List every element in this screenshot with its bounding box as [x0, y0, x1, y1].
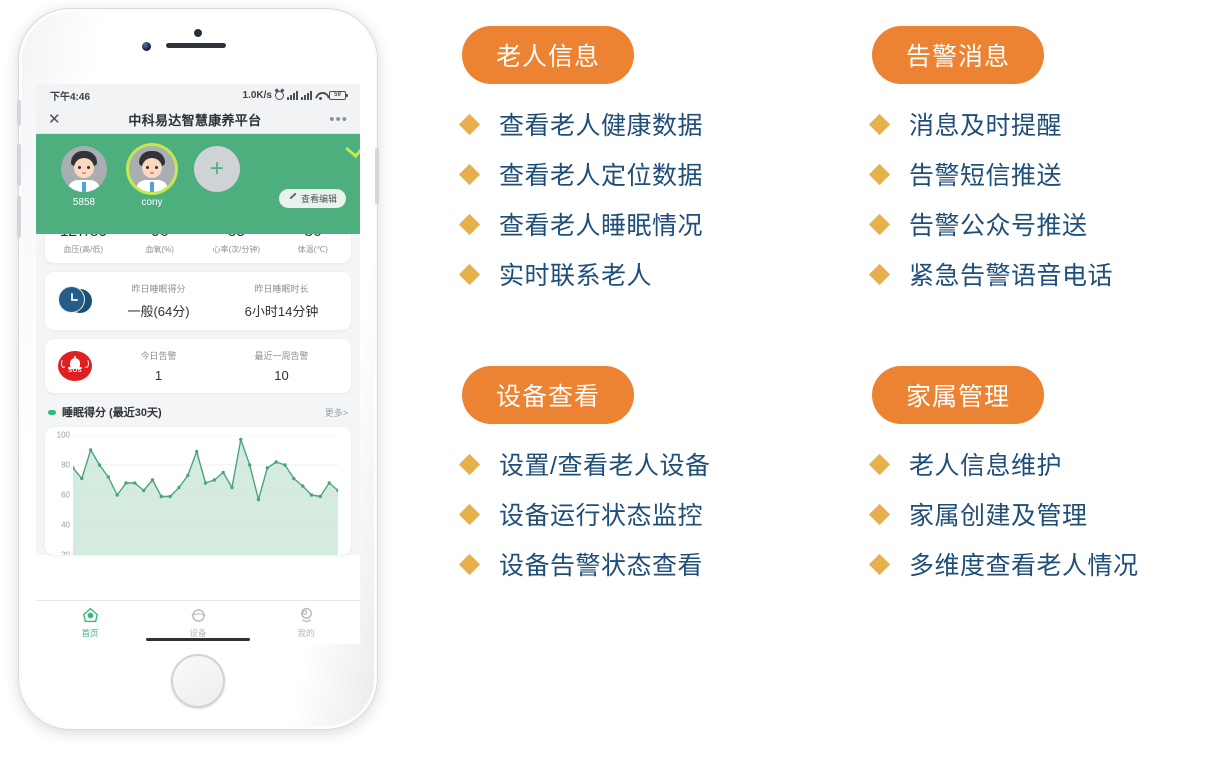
list-item-label: 查看老人睡眠情况: [499, 206, 703, 242]
feature-section-elder-info: 老人信息 查看老人健康数据 查看老人定位数据 查看老人睡眠情况: [462, 26, 872, 306]
y-axis-tick: 60: [61, 491, 70, 500]
diamond-bullet-icon: [869, 213, 890, 234]
status-indicators: 1.0K/s 59: [243, 90, 346, 101]
tab-label: 设备: [144, 627, 252, 639]
tab-label: 首页: [36, 627, 144, 639]
status-bar: 下午4:46 1.0K/s 59: [36, 84, 360, 106]
list-item-label: 查看老人健康数据: [499, 106, 703, 142]
sleep-clock-moon-icon: [53, 286, 97, 316]
chart-section-header: 睡眠得分 (最近30天) 更多>: [45, 404, 351, 420]
feature-list: 查看老人健康数据 查看老人定位数据 查看老人睡眠情况 实时联系老人: [462, 106, 872, 292]
field-value: 10: [220, 368, 343, 383]
y-axis-tick: 20: [61, 551, 70, 556]
list-item-label: 设备运行状态监控: [499, 496, 703, 532]
diamond-bullet-icon: [869, 453, 890, 474]
vital-label: 体温(℃): [275, 244, 352, 255]
earpiece-speaker: [166, 43, 226, 48]
field-value: 6小时14分钟: [220, 301, 343, 320]
battery-icon: 59: [329, 91, 346, 100]
sleep-card[interactable]: 昨日睡眠得分 一般(64分) 昨日睡眠时长 6小时14分钟: [45, 272, 351, 330]
alarm-fields: 今日告警 1 最近一周告警 10: [97, 349, 343, 383]
page-root: 下午4:46 1.0K/s 59 ✕ 中科易达智慧康养平台 •••: [0, 0, 1215, 775]
section-pill-title: 家属管理: [872, 366, 1044, 424]
feature-section-alarm-message: 告警消息 消息及时提醒 告警短信推送 告警公众号推送: [872, 26, 1202, 306]
feature-section-device-view: 设备查看 设置/查看老人设备 设备运行状态监控 设备告警状态查看: [462, 366, 872, 596]
status-time: 下午4:46: [50, 88, 90, 103]
signal-icon-2: [301, 91, 312, 100]
diamond-bullet-icon: [869, 503, 890, 524]
avatar-label: cony: [126, 197, 178, 208]
profile-header: 5858 cony +: [36, 134, 360, 234]
pencil-icon: [288, 194, 297, 203]
dashboard-content: 127/80 血压(高/低) 96 血氧(%) 85 心率(次/分钟) 36 体…: [36, 214, 360, 555]
avatar-item-5858[interactable]: 5858: [58, 146, 110, 208]
selected-check-icon: [345, 134, 360, 158]
home-icon: [36, 607, 144, 625]
diamond-bullet-icon: [459, 163, 480, 184]
list-item-label: 紧急告警语音电话: [909, 256, 1113, 292]
field-label: 昨日睡眠时长: [220, 282, 343, 295]
field-value: 1: [97, 368, 220, 383]
diamond-bullet-icon: [459, 453, 480, 474]
diamond-bullet-icon: [869, 163, 890, 184]
section-pill-title: 设备查看: [462, 366, 634, 424]
diamond-bullet-icon: [459, 553, 480, 574]
diamond-bullet-icon: [869, 553, 890, 574]
sos-label: SOS: [68, 368, 82, 374]
view-edit-button[interactable]: 查看编辑: [279, 189, 346, 208]
list-item[interactable]: 老人信息维护: [872, 446, 1202, 482]
list-item[interactable]: 多维度查看老人情况: [872, 546, 1202, 582]
volume-down-button[interactable]: [17, 196, 21, 238]
sleep-score-chart: 10080604020: [45, 427, 351, 555]
feature-panel: 老人信息 查看老人健康数据 查看老人定位数据 查看老人睡眠情况: [462, 26, 1202, 596]
phone-mockup: 下午4:46 1.0K/s 59 ✕ 中科易达智慧康养平台 •••: [18, 8, 378, 730]
list-item[interactable]: 实时联系老人: [462, 256, 872, 292]
chart-more-link[interactable]: 更多>: [325, 406, 348, 419]
app-title-bar: ✕ 中科易达智慧康养平台 •••: [36, 106, 360, 134]
device-icon: [144, 607, 252, 625]
proximity-sensor-icon: [194, 29, 202, 37]
list-item[interactable]: 查看老人睡眠情况: [462, 206, 872, 242]
alarm-card[interactable]: SOS 今日告警 1 最近一周告警 10: [45, 339, 351, 393]
list-item[interactable]: 消息及时提醒: [872, 106, 1202, 142]
view-edit-label: 查看编辑: [301, 192, 337, 205]
list-item-label: 多维度查看老人情况: [909, 546, 1139, 582]
vital-label: 血压(高/低): [45, 244, 122, 255]
avatar-item-cony[interactable]: cony: [126, 146, 178, 208]
section-pill-title: 告警消息: [872, 26, 1044, 84]
home-indicator: [146, 638, 250, 641]
signal-icon-1: [287, 91, 298, 100]
tab-device[interactable]: 设备: [144, 607, 252, 639]
diamond-bullet-icon: [869, 113, 890, 134]
list-item[interactable]: 紧急告警语音电话: [872, 256, 1202, 292]
power-button[interactable]: [375, 148, 379, 204]
sleep-score-field: 昨日睡眠得分 一般(64分): [97, 282, 220, 320]
network-speed: 1.0K/s: [243, 90, 272, 101]
tab-home[interactable]: 首页: [36, 607, 144, 639]
list-item[interactable]: 设备运行状态监控: [462, 496, 872, 532]
sos-bell-icon: SOS: [53, 351, 97, 381]
feature-list: 消息及时提醒 告警短信推送 告警公众号推送 紧急告警语音电话: [872, 106, 1202, 292]
field-label: 昨日睡眠得分: [97, 282, 220, 295]
diamond-bullet-icon: [459, 503, 480, 524]
phone-notch-area: [18, 34, 378, 56]
avatar: [61, 146, 107, 192]
volume-up-button[interactable]: [17, 144, 21, 186]
phone-screen: 下午4:46 1.0K/s 59 ✕ 中科易达智慧康养平台 •••: [36, 84, 360, 644]
y-axis-tick: 100: [57, 431, 70, 440]
chart-plot-area: [73, 435, 345, 555]
front-camera-icon: [142, 42, 151, 51]
list-item-label: 告警公众号推送: [909, 206, 1088, 242]
close-icon[interactable]: ✕: [48, 112, 61, 127]
list-item-label: 查看老人定位数据: [499, 156, 703, 192]
list-item-label: 设置/查看老人设备: [499, 446, 710, 482]
field-value: 一般(64分): [97, 301, 220, 320]
page-title: 中科易达智慧康养平台: [128, 110, 261, 129]
person-icon: [252, 607, 360, 625]
mute-switch[interactable]: [17, 100, 21, 126]
list-item-label: 设备告警状态查看: [499, 546, 703, 582]
list-item[interactable]: 家属创建及管理: [872, 496, 1202, 532]
list-item[interactable]: 告警短信推送: [872, 156, 1202, 192]
field-label: 最近一周告警: [220, 349, 343, 362]
list-item-label: 家属创建及管理: [909, 496, 1088, 532]
week-alarm-field: 最近一周告警 10: [220, 349, 343, 383]
tab-label: 我的: [252, 627, 360, 639]
list-item[interactable]: 设备告警状态查看: [462, 546, 872, 582]
avatar: [129, 146, 175, 192]
list-item[interactable]: 设置/查看老人设备: [462, 446, 872, 482]
chart-y-axis: 10080604020: [47, 435, 73, 555]
vital-label: 血氧(%): [122, 244, 199, 255]
list-item[interactable]: 告警公众号推送: [872, 206, 1202, 242]
alarm-icon: [275, 91, 284, 100]
sleep-duration-field: 昨日睡眠时长 6小时14分钟: [220, 282, 343, 320]
vital-label: 心率(次/分钟): [198, 244, 275, 255]
plus-icon: +: [194, 146, 240, 192]
y-axis-tick: 80: [61, 461, 70, 470]
wifi-icon: [315, 91, 326, 100]
today-alarm-field: 今日告警 1: [97, 349, 220, 383]
diamond-bullet-icon: [459, 113, 480, 134]
bottom-tab-bar: 首页 设备: [36, 600, 360, 644]
feature-list: 设置/查看老人设备 设备运行状态监控 设备告警状态查看: [462, 446, 872, 582]
section-marker-icon: [48, 410, 56, 415]
home-button[interactable]: [171, 654, 225, 708]
field-label: 今日告警: [97, 349, 220, 362]
section-pill-title: 老人信息: [462, 26, 634, 84]
feature-list: 老人信息维护 家属创建及管理 多维度查看老人情况: [872, 446, 1202, 582]
list-item-label: 实时联系老人: [499, 256, 652, 292]
tab-profile[interactable]: 我的: [252, 607, 360, 639]
add-elder-button[interactable]: +: [194, 146, 246, 192]
list-item[interactable]: 查看老人定位数据: [462, 156, 872, 192]
more-options-icon[interactable]: •••: [329, 112, 348, 127]
list-item-label: 告警短信推送: [909, 156, 1062, 192]
avatar-label: 5858: [58, 197, 110, 208]
list-item[interactable]: 查看老人健康数据: [462, 106, 872, 142]
list-item-label: 消息及时提醒: [909, 106, 1062, 142]
sleep-fields: 昨日睡眠得分 一般(64分) 昨日睡眠时长 6小时14分钟: [97, 282, 343, 320]
diamond-bullet-icon: [459, 213, 480, 234]
chart-title: 睡眠得分 (最近30天): [62, 404, 162, 420]
y-axis-tick: 40: [61, 521, 70, 530]
diamond-bullet-icon: [869, 263, 890, 284]
feature-section-family-management: 家属管理 老人信息维护 家属创建及管理 多维度查看老人情况: [872, 366, 1202, 596]
list-item-label: 老人信息维护: [909, 446, 1062, 482]
diamond-bullet-icon: [459, 263, 480, 284]
